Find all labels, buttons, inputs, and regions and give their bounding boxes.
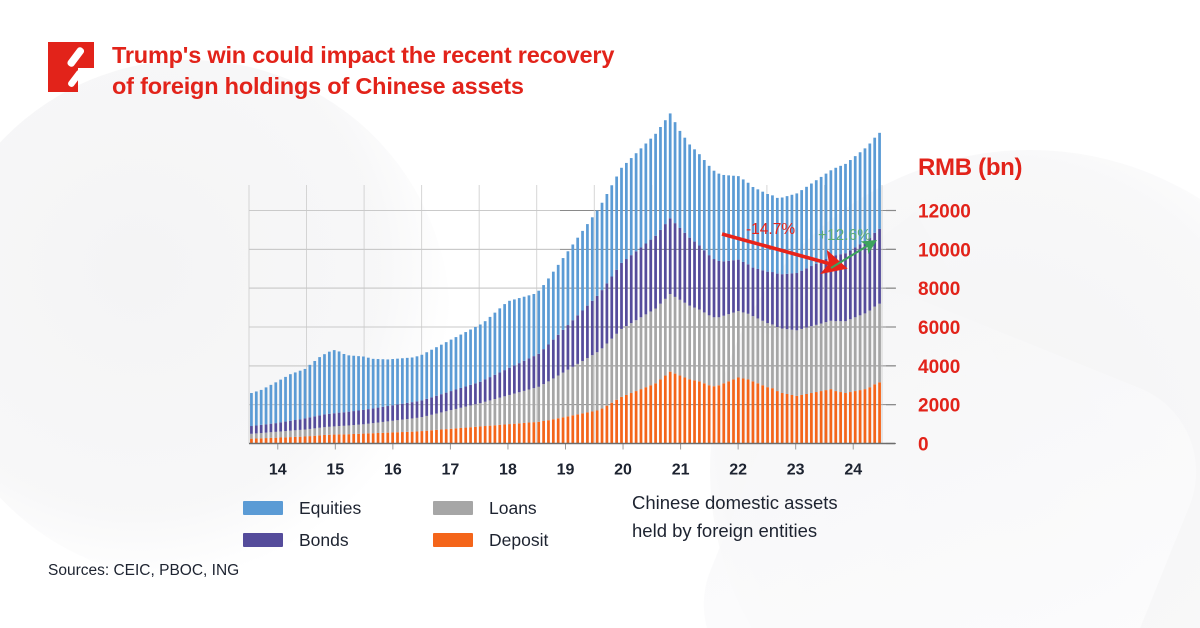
bar-segment — [786, 274, 789, 329]
bar-segment — [255, 425, 258, 433]
bar-segment — [844, 393, 847, 443]
bar-segment — [455, 390, 458, 409]
bar-segment — [766, 323, 769, 387]
bar-segment — [265, 424, 268, 432]
bar-segment — [313, 416, 316, 428]
bar-segment — [318, 428, 321, 436]
bar-segment — [328, 414, 331, 427]
bar-segment — [469, 385, 472, 406]
bar-segment — [771, 388, 774, 443]
bar-segment — [752, 381, 755, 443]
bar-segment — [518, 392, 521, 423]
bar-segment — [756, 269, 759, 319]
bar-segment — [698, 310, 701, 382]
bar-segment — [255, 438, 258, 443]
bar-segment — [669, 372, 672, 444]
bar-segment — [338, 434, 341, 443]
bar-segment — [679, 376, 682, 444]
bar-segment — [698, 245, 701, 309]
bar-segment — [347, 434, 350, 443]
bar-segment — [693, 380, 696, 443]
bar-segment — [372, 423, 375, 433]
bar-segment — [727, 261, 730, 314]
bar-segment — [718, 174, 721, 261]
bar-segment — [425, 416, 428, 431]
bar-segment — [547, 420, 550, 443]
bar-segment — [518, 298, 521, 363]
bar-segment — [411, 418, 414, 431]
bar-segment — [864, 389, 867, 443]
bar-segment — [839, 392, 842, 443]
bar-segment — [752, 268, 755, 317]
bar-segment — [693, 242, 696, 308]
bar-segment — [513, 394, 516, 424]
bar-segment — [708, 385, 711, 443]
bar-segment — [367, 424, 370, 434]
x-axis-label: 18 — [499, 462, 517, 479]
bar-segment — [703, 383, 706, 443]
bar-segment — [284, 437, 287, 443]
bar-segment — [649, 240, 652, 312]
bar-segment — [352, 411, 355, 425]
bar-segment — [635, 251, 638, 320]
bar-segment — [469, 330, 472, 385]
bar-segment — [382, 433, 385, 444]
bar-segment — [318, 415, 321, 427]
bar-segment — [411, 357, 414, 402]
legend-label-bonds: Bonds — [299, 530, 349, 551]
bar-segment — [537, 422, 540, 444]
bar-segment — [610, 277, 613, 339]
bar-segment — [630, 158, 633, 255]
bar-segment — [571, 367, 574, 416]
bar-segment — [664, 224, 667, 299]
bar-segment — [703, 312, 706, 383]
bar-segment — [523, 361, 526, 391]
bar-segment — [795, 193, 798, 273]
bar-segment — [654, 236, 657, 309]
bar-segment — [420, 417, 423, 431]
bar-segment — [630, 323, 633, 393]
bar-segment — [279, 380, 282, 423]
bar-segment — [601, 203, 604, 290]
bar-segment — [635, 320, 638, 391]
bar-segment — [834, 321, 837, 391]
bars-layer — [250, 113, 881, 443]
bar-segment — [732, 260, 735, 312]
bar-segment — [464, 386, 467, 406]
bar-segment — [859, 315, 862, 390]
bar-segment — [367, 409, 370, 424]
bar-segment — [761, 321, 764, 385]
bar-segment — [620, 397, 623, 444]
bar-segment — [839, 254, 842, 321]
bar-segment — [649, 385, 652, 443]
bar-segment — [430, 350, 433, 398]
sources-note: Sources: CEIC, PBOC, ING — [48, 562, 239, 580]
bar-segment — [713, 259, 716, 317]
bar-segment — [274, 432, 277, 438]
bar-segment — [586, 358, 589, 412]
bar-segment — [640, 317, 643, 389]
bar-segment — [859, 244, 862, 315]
bar-segment — [270, 432, 273, 438]
bar-segment — [459, 408, 462, 428]
bar-segment — [523, 297, 526, 361]
bar-segment — [464, 428, 467, 444]
bar-segment — [654, 383, 657, 443]
bar-segment — [537, 291, 540, 354]
bar-segment — [596, 296, 599, 352]
bar-segment — [313, 361, 316, 416]
bar-segment — [825, 259, 828, 322]
bar-segment — [825, 174, 828, 259]
bar-segment — [698, 154, 701, 245]
bar-segment — [479, 403, 482, 426]
bar-segment — [742, 312, 745, 378]
bar-segment — [552, 419, 555, 443]
bar-segment — [498, 425, 501, 444]
bar-segment — [372, 408, 375, 423]
bar-segment — [810, 184, 813, 267]
bar-segment — [737, 176, 740, 259]
recovery-annotation-label: +12.6% — [818, 227, 871, 244]
bar-segment — [791, 330, 794, 395]
bar-segment — [396, 432, 399, 443]
bar-segment — [284, 431, 287, 437]
bar-segment — [289, 421, 292, 431]
bar-segment — [688, 306, 691, 380]
bar-segment — [494, 399, 497, 425]
bar-segment — [844, 253, 847, 321]
legend-item-bonds[interactable]: Bonds — [243, 530, 433, 551]
bar-segment — [352, 434, 355, 444]
bar-segment — [591, 355, 594, 411]
bar-segment — [474, 327, 477, 383]
bar-segment — [795, 273, 798, 330]
bar-segment — [304, 418, 307, 429]
bar-segment — [299, 430, 302, 437]
page-title: Trump's win could impact the recent reco… — [112, 40, 614, 102]
bar-segment — [450, 429, 453, 444]
bar-segment — [328, 352, 331, 414]
bar-segment — [776, 391, 779, 443]
bar-segment — [489, 377, 492, 400]
bar-segment — [338, 426, 341, 434]
bar-segment — [727, 314, 730, 381]
x-axis-label: 21 — [672, 462, 690, 479]
bar-segment — [323, 435, 326, 444]
bar-segment — [786, 329, 789, 394]
bar-segment — [776, 327, 779, 391]
bar-segment — [435, 430, 438, 444]
bar-segment — [338, 413, 341, 426]
bar-segment — [805, 268, 808, 327]
bar-segment — [367, 433, 370, 443]
bar-segment — [250, 426, 253, 434]
bar-segment — [503, 370, 506, 396]
bar-segment — [878, 304, 881, 383]
bar-segment — [294, 420, 297, 430]
x-axis-label: 24 — [844, 462, 862, 479]
bar-segment — [708, 166, 711, 255]
bar-segment — [791, 273, 794, 329]
bar-segment — [630, 255, 633, 323]
bar-segment — [270, 438, 273, 444]
bar-segment — [674, 297, 677, 374]
bar-segment — [445, 429, 448, 443]
bar-segment — [347, 412, 350, 426]
bar-segment — [683, 138, 686, 233]
bar-segment — [489, 426, 492, 444]
bar-segment — [362, 410, 365, 424]
bar-segment — [513, 365, 516, 393]
bar-segment — [644, 144, 647, 244]
bar-segment — [386, 406, 389, 421]
bar-segment — [265, 433, 268, 438]
bar-segment — [450, 410, 453, 429]
bar-segment — [576, 414, 579, 443]
bar-segment — [513, 299, 516, 365]
bar-segment — [718, 317, 721, 385]
bar-segment — [450, 391, 453, 410]
bar-segment — [508, 368, 511, 395]
bar-segment — [664, 299, 667, 376]
bar-segment — [620, 168, 623, 263]
bar-segment — [459, 388, 462, 408]
bar-segment — [372, 433, 375, 443]
bar-segment — [649, 139, 652, 240]
bar-segment — [401, 432, 404, 443]
bar-segment — [659, 304, 662, 380]
bar-segment — [528, 390, 531, 423]
ing-logo — [48, 42, 94, 92]
bar-segment — [440, 430, 443, 444]
bar-segment — [664, 376, 667, 444]
bar-segment — [849, 250, 852, 319]
y-axis-label: 2000 — [918, 396, 960, 417]
bar-segment — [328, 427, 331, 435]
bar-segment — [391, 405, 394, 421]
bar-segment — [683, 303, 686, 378]
bar-segment — [455, 428, 458, 443]
bar-segment — [854, 317, 857, 391]
legend-item-equities[interactable]: Equities — [243, 498, 433, 519]
bar-segment — [795, 396, 798, 444]
bar-segment — [659, 230, 662, 304]
bar-segment — [747, 264, 750, 314]
bar-segment — [581, 231, 584, 311]
bar-segment — [703, 250, 706, 312]
bar-segment — [703, 160, 706, 250]
bar-segment — [274, 438, 277, 444]
bar-segment — [547, 381, 550, 420]
bar-segment — [825, 390, 828, 443]
bar-segment — [625, 326, 628, 395]
bar-segment — [713, 386, 716, 443]
bar-segment — [508, 301, 511, 368]
bar-segment — [742, 262, 745, 312]
bar-segment — [747, 379, 750, 443]
bar-segment — [313, 436, 316, 444]
bar-segment — [708, 255, 711, 315]
bar-segment — [737, 260, 740, 311]
bar-segment — [825, 322, 828, 390]
bar-segment — [318, 435, 321, 443]
bar-segment — [610, 403, 613, 444]
bar-segment — [362, 424, 365, 433]
bar-segment — [537, 354, 540, 387]
bar-segment — [635, 153, 638, 251]
bar-segment — [416, 401, 419, 418]
bar-segment — [250, 393, 253, 426]
bar-segment — [328, 435, 331, 444]
bar-segment — [518, 363, 521, 392]
bar-segment — [425, 352, 428, 399]
chart-description: Chinese domestic assets held by foreign … — [632, 489, 902, 545]
bar-segment — [484, 379, 487, 401]
bar-segment — [820, 177, 823, 261]
bar-segment — [416, 431, 419, 443]
bar-segment — [625, 259, 628, 326]
bar-segment — [406, 432, 409, 444]
bar-segment — [459, 428, 462, 444]
bar-segment — [377, 359, 380, 408]
bar-segment — [362, 357, 365, 410]
bar-segment — [362, 434, 365, 444]
bar-segment — [640, 247, 643, 317]
bar-segment — [815, 264, 818, 325]
bar-segment — [596, 211, 599, 296]
bar-segment — [309, 429, 312, 436]
bar-segment — [343, 354, 346, 412]
bar-segment — [343, 412, 346, 426]
bar-segment — [601, 348, 604, 408]
bar-segment — [338, 351, 341, 412]
bar-segment — [679, 131, 682, 228]
bar-segment — [255, 391, 258, 425]
bar-segment — [586, 412, 589, 443]
bar-segment — [781, 329, 784, 393]
bar-segment — [567, 325, 570, 370]
bar-segment — [284, 377, 287, 422]
bar-segment — [416, 356, 419, 401]
bar-segment — [615, 400, 618, 444]
bar-segment — [742, 378, 745, 443]
bar-segment — [357, 356, 360, 410]
bar-segment — [304, 437, 307, 444]
bar-segment — [396, 404, 399, 420]
bar-segment — [323, 354, 326, 414]
bar-segment — [718, 261, 721, 317]
bar-segment — [313, 428, 316, 435]
bar-segment — [810, 326, 813, 393]
bar-segment — [372, 359, 375, 409]
bar-segment — [547, 278, 550, 344]
bar-segment — [571, 320, 574, 367]
y-axis-label: 0 — [918, 435, 929, 456]
bar-segment — [459, 335, 462, 388]
title-line-2: of foreign holdings of Chinese assets — [112, 71, 614, 102]
bar-segment — [494, 375, 497, 399]
bar-segment — [878, 382, 881, 443]
bar-segment — [771, 272, 774, 324]
bar-segment — [601, 409, 604, 444]
bar-segment — [756, 383, 759, 443]
bar-segment — [367, 358, 370, 409]
bar-segment — [299, 437, 302, 444]
bar-segment — [523, 391, 526, 423]
bar-segment — [732, 176, 735, 260]
x-axis-label: 15 — [326, 462, 344, 479]
bar-segment — [625, 395, 628, 444]
bar-segment — [440, 345, 443, 395]
bar-segment — [508, 424, 511, 443]
bar-segment — [562, 330, 565, 373]
bar-segment — [265, 438, 268, 443]
bar-segment — [737, 377, 740, 443]
legend-swatch-deposit — [433, 533, 473, 547]
bar-segment — [859, 390, 862, 443]
bar-segment — [830, 321, 833, 389]
bar-segment — [440, 394, 443, 412]
bar-segment — [747, 314, 750, 380]
bar-segment — [873, 138, 876, 233]
legend-item-deposit[interactable]: Deposit — [433, 530, 623, 551]
legend-swatch-loans — [433, 501, 473, 515]
bar-segment — [800, 271, 803, 329]
bar-segment — [576, 238, 579, 316]
bar-segment — [494, 425, 497, 443]
bar-segment — [571, 244, 574, 320]
bar-segment — [265, 387, 268, 424]
bar-segment — [274, 423, 277, 432]
bar-segment — [776, 274, 779, 327]
bar-segment — [260, 390, 263, 425]
bar-segment — [878, 229, 881, 304]
bar-segment — [484, 426, 487, 443]
legend-swatch-equities — [243, 501, 283, 515]
bar-segment — [781, 274, 784, 328]
bar-segment — [323, 414, 326, 427]
bar-segment — [659, 379, 662, 443]
bar-segment — [674, 374, 677, 444]
x-axis-label: 14 — [269, 462, 287, 479]
legend-swatch-bonds — [243, 533, 283, 547]
bar-segment — [732, 313, 735, 380]
bar-segment — [318, 357, 321, 415]
bar-segment — [260, 425, 263, 433]
bar-segment — [406, 419, 409, 432]
bar-segment — [800, 329, 803, 395]
bar-segment — [820, 391, 823, 443]
bar-segment — [586, 306, 589, 358]
bar-segment — [615, 177, 618, 270]
bar-segment — [401, 420, 404, 432]
bar-segment — [654, 309, 657, 384]
bar-segment — [503, 396, 506, 424]
bar-segment — [606, 344, 609, 406]
legend-item-loans[interactable]: Loans — [433, 498, 623, 519]
bar-segment — [815, 180, 818, 263]
bar-segment — [552, 378, 555, 419]
bar-segment — [430, 397, 433, 414]
bar-segment — [849, 319, 852, 392]
bar-segment — [518, 423, 521, 443]
bar-segment — [576, 315, 579, 364]
bar-segment — [542, 384, 545, 421]
bar-segment — [727, 381, 730, 443]
